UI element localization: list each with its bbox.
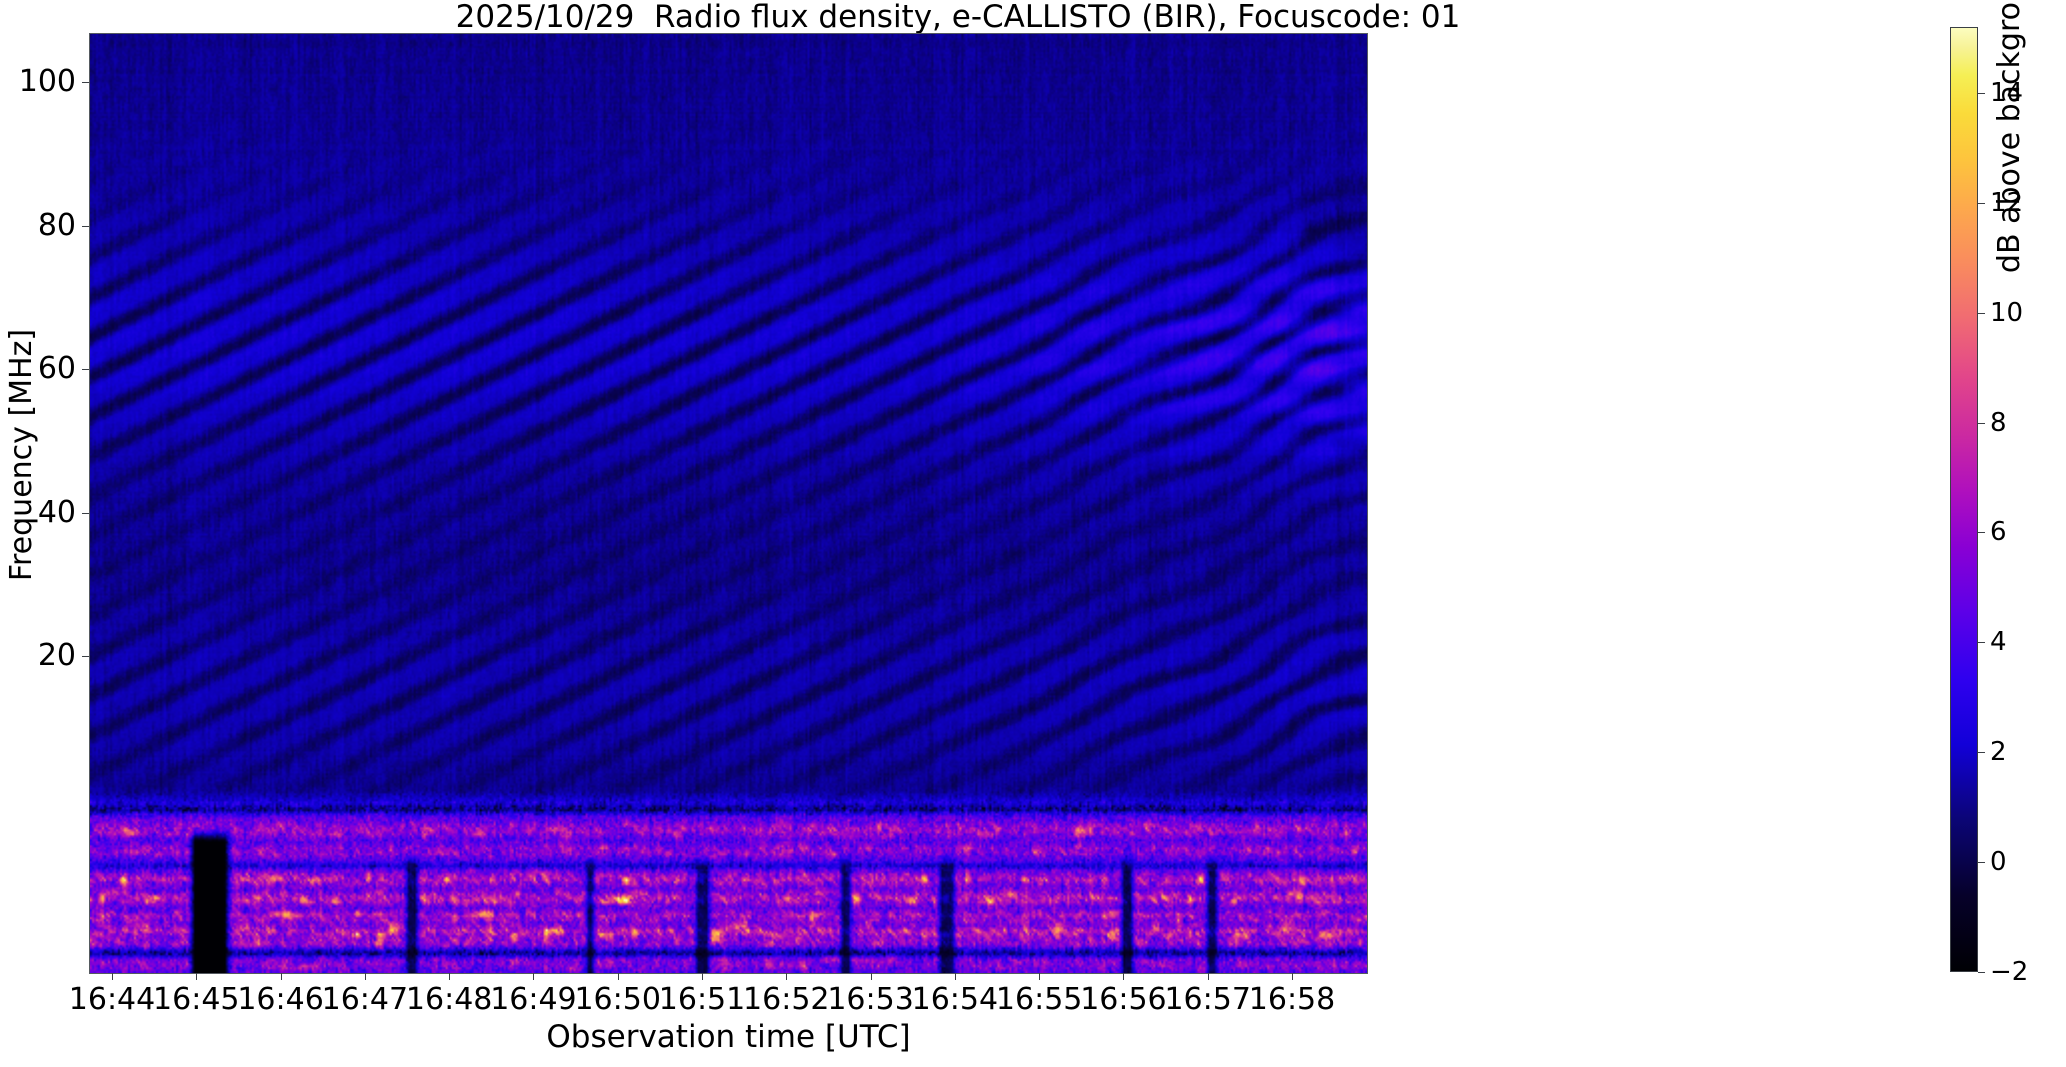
- ytick-mark: [82, 226, 89, 227]
- colorbar-tick-label: 4: [1990, 629, 2007, 655]
- colorbar-tick-mark: [1978, 752, 1985, 753]
- colorbar-tick-label: −2: [1990, 959, 2028, 985]
- xtick-mark: [1208, 973, 1209, 980]
- colorbar-tick-mark: [1978, 203, 1985, 204]
- xtick-mark: [1123, 973, 1124, 980]
- xtick-mark: [871, 973, 872, 980]
- colorbar-gradient: [1950, 27, 1978, 972]
- ytick-label-80: 80: [0, 211, 76, 241]
- xtick-label-1658: 16:58: [1249, 985, 1335, 1015]
- xtick-label-1655: 16:55: [996, 985, 1082, 1015]
- xtick-mark: [449, 973, 450, 980]
- colorbar-tick-label: 0: [1990, 849, 2007, 875]
- xtick-label-1648: 16:48: [406, 985, 492, 1015]
- xtick-mark: [112, 973, 113, 980]
- colorbar-tick-mark: [1978, 313, 1985, 314]
- xtick-label-1651: 16:51: [659, 985, 745, 1015]
- xtick-mark: [702, 973, 703, 980]
- ytick-mark: [82, 369, 89, 370]
- xtick-mark: [196, 973, 197, 980]
- xtick-mark: [365, 973, 366, 980]
- xtick-mark: [618, 973, 619, 980]
- xtick-mark: [786, 973, 787, 980]
- figure-canvas: 2025/10/29 Radio flux density, e-CALLIST…: [0, 0, 2066, 1067]
- colorbar-tick-mark: [1978, 532, 1985, 533]
- ytick-label-100: 100: [0, 67, 76, 97]
- xtick-label-1644: 16:44: [69, 985, 155, 1015]
- page-title: 2025/10/29 Radio flux density, e-CALLIST…: [0, 2, 1916, 33]
- xtick-label-1653: 16:53: [827, 985, 913, 1015]
- colorbar-tick-mark: [1978, 972, 1985, 973]
- xtick-label-1657: 16:57: [1164, 985, 1250, 1015]
- colorbar-tick-mark: [1978, 642, 1985, 643]
- xtick-label-1654: 16:54: [912, 985, 998, 1015]
- colorbar-tick-mark: [1978, 423, 1985, 424]
- xtick-label-1650: 16:50: [574, 985, 660, 1015]
- colorbar-tick-label: 2: [1990, 739, 2007, 765]
- xtick-mark: [1039, 973, 1040, 980]
- xtick-label-1656: 16:56: [1080, 985, 1166, 1015]
- xtick-label-1646: 16:46: [237, 985, 323, 1015]
- colorbar-tick-mark: [1978, 93, 1985, 94]
- x-axis-label: Observation time [UTC]: [89, 1022, 1368, 1053]
- spectrogram-image: [90, 34, 1367, 973]
- ytick-mark: [82, 82, 89, 83]
- xtick-label-1652: 16:52: [743, 985, 829, 1015]
- xtick-label-1647: 16:47: [322, 985, 408, 1015]
- colorbar-tick-label: 6: [1990, 519, 2007, 545]
- colorbar-tick-mark: [1978, 862, 1985, 863]
- xtick-label-1649: 16:49: [490, 985, 576, 1015]
- colorbar[interactable]: 14121086420−2: [1950, 27, 1978, 972]
- xtick-mark: [955, 973, 956, 980]
- ytick-mark: [82, 513, 89, 514]
- y-axis-label: Frequency [MHz]: [7, 305, 37, 605]
- spectrogram-axes[interactable]: [89, 33, 1368, 974]
- ytick-label-20: 20: [0, 641, 76, 671]
- xtick-mark: [281, 973, 282, 980]
- ytick-mark: [82, 656, 89, 657]
- colorbar-label: dB above background: [1995, 0, 2025, 499]
- xtick-mark: [533, 973, 534, 980]
- xtick-mark: [1292, 973, 1293, 980]
- xtick-label-1645: 16:45: [153, 985, 239, 1015]
